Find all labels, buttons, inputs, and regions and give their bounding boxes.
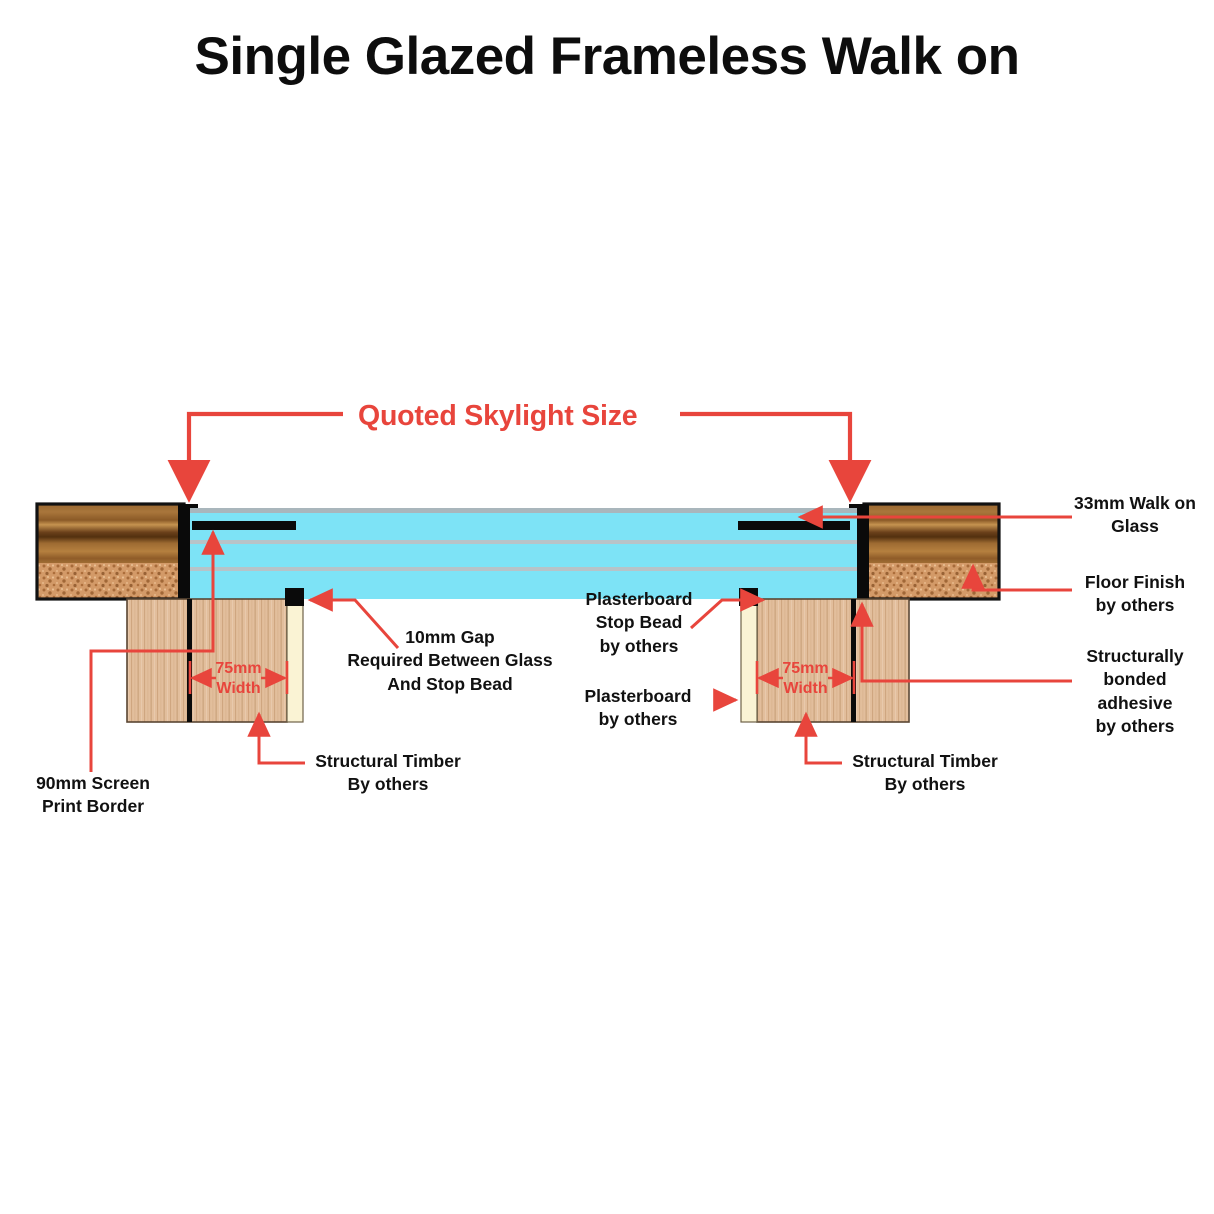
callout-structural-timber-left: Structural Timber By others xyxy=(307,750,469,797)
callout-floor-finish: Floor Finish by others xyxy=(1060,571,1210,618)
quoted-skylight-size-label: Quoted Skylight Size xyxy=(358,400,637,433)
callout-structural-adhesive: Structurally bonded adhesive by others xyxy=(1060,645,1210,738)
leader-quoted-left xyxy=(189,414,343,497)
callout-screen-print-border: 90mm Screen Print Border xyxy=(12,772,174,819)
callout-walk-on-glass: 33mm Walk on Glass xyxy=(1060,492,1210,539)
callout-plasterboard-stop-bead: Plasterboard Stop Bead by others xyxy=(558,588,720,658)
stop-bead-right xyxy=(739,588,758,606)
floor-assembly-left xyxy=(37,504,184,599)
leader-quoted-right xyxy=(680,414,850,497)
dimension-label-width-right: 75mm Width xyxy=(749,659,862,700)
callout-plasterboard: Plasterboard by others xyxy=(562,685,714,732)
callout-structural-timber-right: Structural Timber By others xyxy=(844,750,1006,797)
stop-bead-left xyxy=(285,588,304,606)
dimension-label-width-left: 75mm Width xyxy=(182,659,295,700)
diagram-page: Single Glazed Frameless Walk on xyxy=(0,0,1214,1214)
